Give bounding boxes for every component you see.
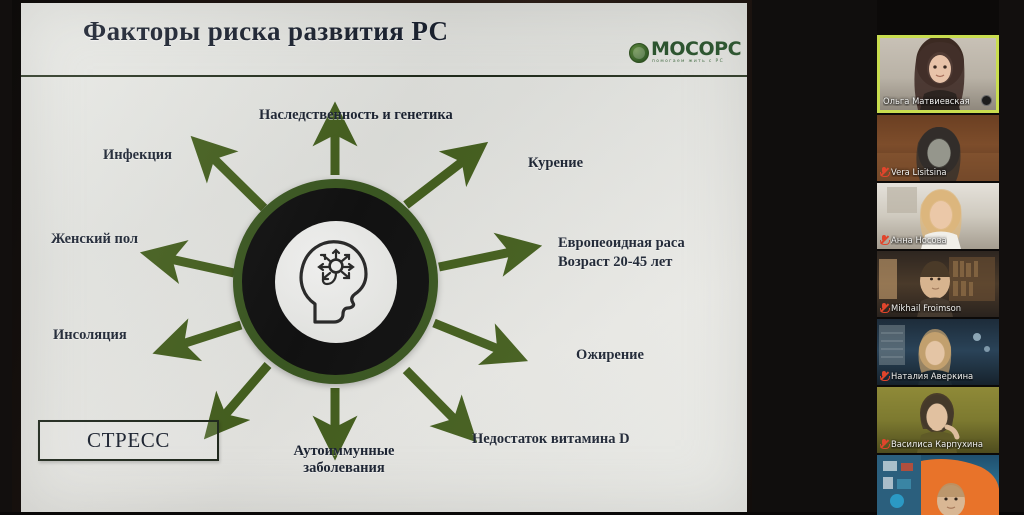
ring-inner-disc — [275, 221, 397, 343]
mic-muted-icon-2 — [880, 235, 888, 245]
participant-namebar-6 — [877, 499, 883, 513]
participant-namebar-5: Василиса Карпухина — [877, 437, 986, 451]
participant-tile-6[interactable] — [877, 455, 999, 515]
participant-name-1: Vera Lisitsina — [891, 167, 947, 177]
participant-name-5: Василиса Карпухина — [891, 439, 983, 449]
participant-tile-0[interactable]: Ольга Матвиевская — [877, 35, 999, 113]
label-race: Европеоидная раса — [558, 235, 685, 252]
arrow-female — [161, 257, 234, 273]
participant-avatar-6 — [877, 455, 999, 515]
label-insolation: Инсоляция — [53, 327, 127, 344]
logo-wordmark: МОСОРС — [651, 40, 741, 59]
participant-tile-3[interactable]: Mikhail Froimson — [877, 251, 999, 317]
label-infection: Инфекция — [103, 147, 172, 164]
label-age: Возраст 20-45 лет — [558, 254, 672, 271]
participant-namebar-1: Vera Lisitsina — [877, 165, 950, 179]
label-obesity: Ожирение — [576, 347, 644, 364]
participant-video-6 — [877, 455, 999, 515]
participant-name-2: Анна Носова — [891, 235, 947, 245]
participant-tile-4[interactable]: Наталия Аверкина — [877, 319, 999, 385]
participant-namebar-3: Mikhail Froimson — [877, 301, 964, 315]
label-autoimmune-line2: заболевания — [289, 460, 399, 477]
projection-screen-frame: Факторы риска развития РС МОСОРС помогае… — [12, 0, 752, 512]
mosors-logo: МОСОРС помогаем жить с РС — [629, 40, 747, 68]
participant-options-icon-0[interactable] — [981, 95, 992, 106]
head-with-neuron-icon — [293, 234, 379, 330]
participant-namebar-2: Анна Носова — [877, 233, 950, 247]
participant-name-3: Mikhail Froimson — [891, 303, 961, 313]
participant-namebar-0: Ольга Матвиевская — [880, 94, 973, 108]
arrow-stress — [218, 365, 268, 423]
label-vitamin-d: Недостаток витамина D — [472, 431, 630, 448]
screen-photo-of-projected-slide: Факторы риска развития РС МОСОРС помогае… — [0, 0, 1024, 512]
slide-title: Факторы риска развития РС — [83, 16, 643, 47]
mic-muted-icon-3 — [880, 303, 888, 313]
mosors-circle-logo-icon — [629, 43, 649, 63]
participant-tile-5[interactable]: Василиса Карпухина — [877, 387, 999, 453]
mic-muted-icon-1 — [880, 167, 888, 177]
label-stress: СТРЕСС — [40, 422, 217, 459]
participant-name-4: Наталия Аверкина — [891, 371, 973, 381]
stress-box: СТРЕСС — [38, 420, 219, 461]
projection-wall-gap — [752, 0, 877, 512]
arrow-vitamin-d — [406, 370, 462, 427]
mic-muted-icon-5 — [880, 439, 888, 449]
central-ring — [233, 179, 438, 384]
logo-tagline: помогаем жить с РС — [652, 59, 724, 64]
arrow-insolation — [173, 325, 241, 347]
mic-muted-icon-4 — [880, 371, 888, 381]
arrow-smoking — [406, 155, 471, 205]
arrow-obesity — [434, 323, 508, 353]
label-heredity: Наследственность и генетика — [259, 107, 453, 124]
participant-name-0: Ольга Матвиевская — [883, 96, 970, 106]
label-autoimmune-line1: Аутоиммунные — [289, 443, 399, 460]
arrow-infection — [206, 151, 264, 208]
participant-namebar-4: Наталия Аверкина — [877, 369, 976, 383]
participant-tile-1[interactable]: Vera Lisitsina — [877, 115, 999, 181]
arrow-race-age — [439, 250, 521, 267]
label-female: Женский пол — [51, 231, 138, 248]
presentation-slide: Факторы риска развития РС МОСОРС помогае… — [21, 3, 747, 512]
participant-tile-2[interactable]: Анна Носова — [877, 183, 999, 249]
video-participant-rail[interactable]: Ольга Матвиевская Vera Lisitsin — [877, 0, 999, 512]
label-smoking: Курение — [528, 155, 583, 172]
risk-factors-diagram: Наследственность и генетика Инфекция Жен… — [21, 75, 747, 512]
